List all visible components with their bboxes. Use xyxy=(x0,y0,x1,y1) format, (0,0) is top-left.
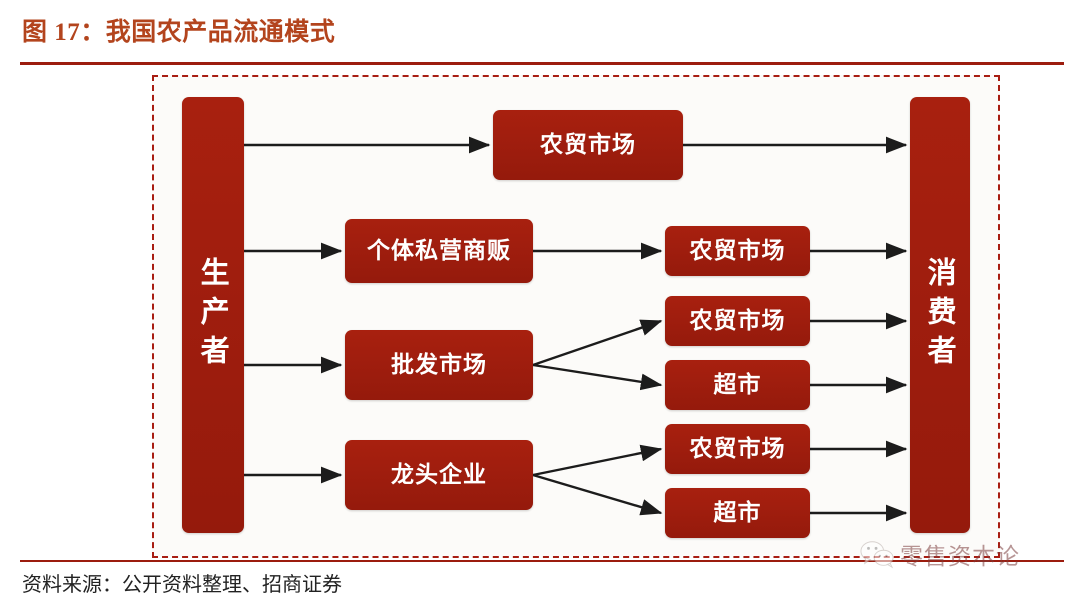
watermark-text: 零售资本论 xyxy=(900,537,1020,571)
watermark: 零售资本论 xyxy=(860,528,1075,580)
node-producer-label: 生产者 xyxy=(195,257,231,374)
flow-diagram: 生产者 农贸市场 个体私营商贩 批发市场 龙头企业 农贸市场 农贸市场 超市 农… xyxy=(0,66,1080,556)
node-market-c[interactable]: 农贸市场 xyxy=(665,424,810,474)
header-divider xyxy=(20,62,1064,65)
node-supermarket-a[interactable]: 超市 xyxy=(665,360,810,410)
node-leading-enterprise-label: 龙头企业 xyxy=(391,461,487,490)
node-market-c-label: 农贸市场 xyxy=(690,435,786,464)
page-title: 图 17：我国农产品流通模式 xyxy=(22,12,335,48)
node-supermarket-b[interactable]: 超市 xyxy=(665,488,810,538)
node-market-a-label: 农贸市场 xyxy=(690,237,786,266)
node-leading-enterprise[interactable]: 龙头企业 xyxy=(345,440,533,510)
source-note: 资料来源：公开资料整理、招商证券 xyxy=(22,568,342,597)
node-producer[interactable]: 生产者 xyxy=(182,97,244,533)
node-market-top[interactable]: 农贸市场 xyxy=(493,110,683,180)
node-market-a[interactable]: 农贸市场 xyxy=(665,226,810,276)
node-market-b-label: 农贸市场 xyxy=(690,307,786,336)
wechat-icon xyxy=(860,539,894,569)
node-market-top-label: 农贸市场 xyxy=(540,131,636,160)
node-supermarket-a-label: 超市 xyxy=(714,371,762,400)
node-consumer-label: 消费者 xyxy=(922,257,958,374)
node-market-b[interactable]: 农贸市场 xyxy=(665,296,810,346)
node-supermarket-b-label: 超市 xyxy=(714,499,762,528)
node-consumer[interactable]: 消费者 xyxy=(910,97,970,533)
node-wholesale-label: 批发市场 xyxy=(391,351,487,380)
node-wholesale[interactable]: 批发市场 xyxy=(345,330,533,400)
node-vendor[interactable]: 个体私营商贩 xyxy=(345,219,533,283)
node-vendor-label: 个体私营商贩 xyxy=(367,237,511,266)
figure-header: 图 17：我国农产品流通模式 xyxy=(0,0,1080,66)
